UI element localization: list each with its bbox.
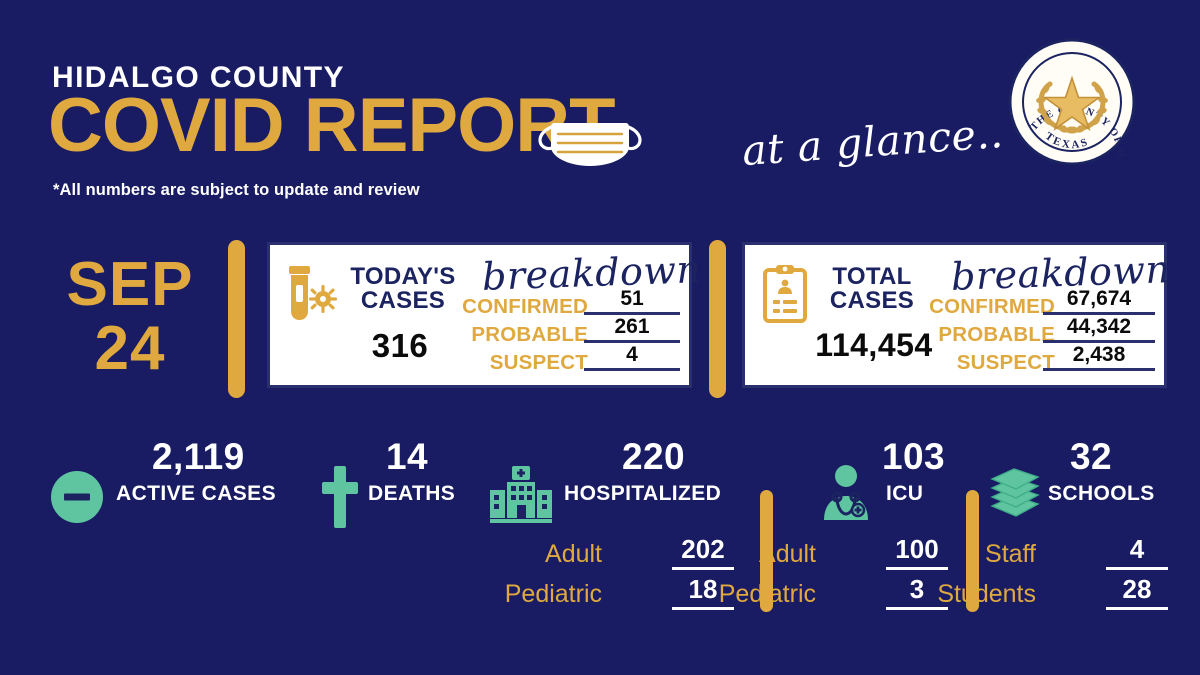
- divider-bar-left: [228, 240, 245, 398]
- covid-report-infographic: HIDALGO COUNTY COVID REPORT at a glance.…: [0, 0, 1200, 675]
- breakdown-name: CONFIRMED: [462, 295, 588, 319]
- divider-bar-mid: [709, 240, 726, 398]
- clipboard-icon: [759, 263, 813, 325]
- disclaimer-note: *All numbers are subject to update and r…: [53, 181, 420, 200]
- circle-minus-icon: [50, 470, 104, 524]
- sub-name: Staff: [985, 540, 1036, 569]
- icu-label: ICU: [886, 482, 923, 506]
- books-stack-icon: [988, 466, 1042, 522]
- total-breakdown-rows: CONFIRMED 67,674 PROBABLE 44,342 SUSPECT…: [931, 293, 1159, 377]
- breakdown-value: 2,438: [1043, 343, 1155, 371]
- todays-cases-label-line2: CASES: [361, 287, 445, 314]
- sub-name: Adult: [545, 540, 602, 569]
- breakdown-value: 4: [584, 343, 680, 371]
- report-title-wrap: COVID REPORT: [48, 88, 615, 164]
- total-cases-label: TOTAL CASES: [811, 265, 933, 313]
- breakdown-name: SUSPECT: [490, 351, 588, 375]
- sub-value: 202: [672, 534, 734, 570]
- breakdown-value: 51: [584, 287, 680, 315]
- cross-icon: [320, 466, 360, 528]
- test-tube-virus-icon: [284, 263, 338, 325]
- todays-breakdown-rows: CONFIRMED 51 PROBABLE 261 SUSPECT 4: [466, 293, 684, 377]
- hospitalized-label: HOSPITALIZED: [564, 482, 721, 506]
- sub-name: Adult: [759, 540, 816, 569]
- deaths-value: 14: [386, 436, 428, 478]
- active-cases-value: 2,119: [152, 436, 245, 478]
- sub-value: 28: [1106, 574, 1168, 610]
- breakdown-row: SUSPECT 2,438: [931, 349, 1159, 377]
- sub-value: 100: [886, 534, 948, 570]
- sub-name: Pediatric: [719, 580, 816, 609]
- schools-value: 32: [1070, 436, 1112, 478]
- breakdown-name: CONFIRMED: [929, 295, 1055, 319]
- total-cases-label-line2: CASES: [830, 287, 914, 314]
- date-day: 24: [55, 319, 205, 379]
- active-cases-label: ACTIVE CASES: [116, 482, 276, 506]
- todays-cases-label-line1: TODAY'S: [350, 263, 455, 290]
- total-cases-card: TOTAL CASES 114,454 breakdown CONFIRMED …: [742, 242, 1167, 388]
- sub-name: Pediatric: [505, 580, 602, 609]
- doctor-stethoscope-icon: [818, 464, 874, 522]
- todays-cases-total: 316: [320, 327, 480, 365]
- breakdown-row: SUSPECT 4: [466, 349, 684, 377]
- sub-name: Students: [937, 580, 1036, 609]
- sub-value: 4: [1106, 534, 1168, 570]
- breakdown-name: SUSPECT: [957, 351, 1055, 375]
- todays-cases-label: TODAY'S CASES: [342, 265, 464, 313]
- tagline: at a glance..: [741, 109, 1005, 175]
- breakdown-value: 67,674: [1043, 287, 1155, 315]
- total-cases-label-line1: TOTAL: [832, 263, 911, 290]
- schools-label: SCHOOLS: [1048, 482, 1155, 506]
- breakdown-value: 44,342: [1043, 315, 1155, 343]
- breakdown-name: PROBABLE: [471, 323, 588, 347]
- hidalgo-county-seal-icon: THE COUNTY OF HIDALGO TEXAS: [1008, 38, 1136, 166]
- deaths-label: DEATHS: [368, 482, 455, 506]
- icu-value: 103: [882, 436, 945, 478]
- header: HIDALGO COUNTY COVID REPORT at a glance.…: [0, 0, 1200, 225]
- report-date: SEP 24: [55, 255, 205, 379]
- hospitalized-value: 220: [622, 436, 685, 478]
- breakdown-value: 261: [584, 315, 680, 343]
- hospital-icon: [490, 466, 552, 524]
- breakdown-name: PROBABLE: [938, 323, 1055, 347]
- surgical-mask-icon: [538, 106, 642, 170]
- date-month: SEP: [66, 250, 193, 319]
- todays-cases-card: TODAY'S CASES 316 breakdown CONFIRMED 51…: [267, 242, 692, 388]
- page-title: COVID REPORT: [48, 88, 615, 164]
